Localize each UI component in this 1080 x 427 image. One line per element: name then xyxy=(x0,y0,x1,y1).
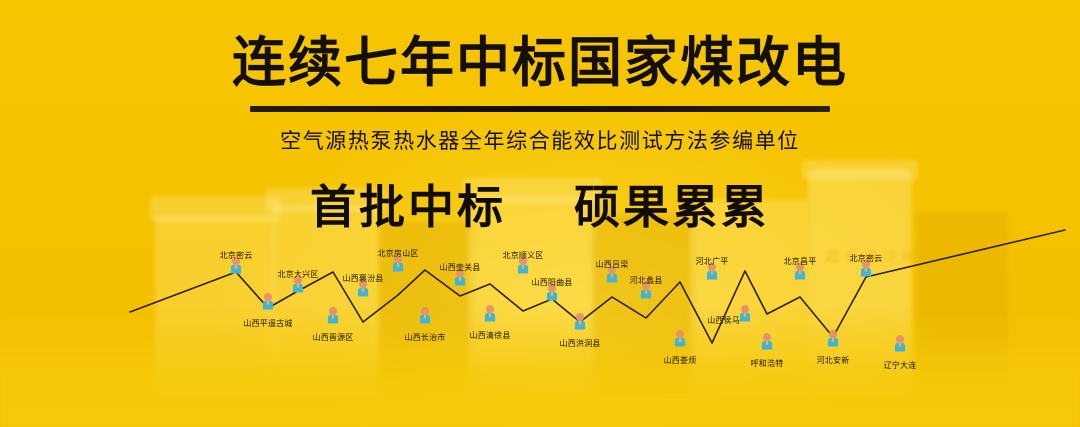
chart-location-marker xyxy=(262,293,275,310)
chart-location-marker xyxy=(674,330,687,347)
chart-location-marker xyxy=(484,305,497,322)
chart-point-label: 山西吕梁 xyxy=(596,259,629,270)
chart-location-marker xyxy=(419,307,432,324)
chart-point-label: 山西长治市 xyxy=(405,332,446,343)
chart-point-label: 北京顺义区 xyxy=(503,250,544,261)
chart-point-label: 山西壶关县 xyxy=(440,262,481,273)
chart-location-marker xyxy=(574,313,587,330)
chart-location-marker xyxy=(739,305,752,322)
chart-point-label: 山西晋源区 xyxy=(313,332,354,343)
chart-point-label: 辽宁大连 xyxy=(884,360,917,371)
chart-point-label: 河北蠡县 xyxy=(630,275,663,286)
chart-point-label: 山西襄汾县 xyxy=(343,273,384,284)
chart-point-label: 北京房山区 xyxy=(378,248,419,259)
chart-point-label: 山西娄烦 xyxy=(664,355,697,366)
chart-location-marker xyxy=(827,330,840,347)
chart-location-marker xyxy=(761,333,774,350)
poster-canvas: 超低温冷暖机 连续七年中标国家煤改电 空气源热泵热水器全年综合能效比测试方法参编… xyxy=(0,0,1080,427)
project-distribution-line-chart xyxy=(0,0,1080,427)
chart-point-label: 山西清徐县 xyxy=(470,330,511,341)
chart-point-label: 北京密云 xyxy=(220,250,253,261)
chart-point-label: 山西洪洞县 xyxy=(560,338,601,349)
chart-point-label: 河北广平 xyxy=(696,256,729,267)
chart-location-marker xyxy=(894,335,907,352)
chart-location-marker xyxy=(327,307,340,324)
chart-point-label: 北京大兴区 xyxy=(278,269,319,280)
chart-point-label: 河北安新 xyxy=(817,355,850,366)
chart-point-label: 呼和浩特 xyxy=(751,358,784,369)
chart-point-label: 山西平遥古城 xyxy=(243,318,292,329)
chart-point-label: 北京昌平 xyxy=(784,256,817,267)
chart-point-label: 北京密云 xyxy=(850,253,883,264)
chart-point-label: 山西阳曲县 xyxy=(532,277,573,288)
chart-point-label: 山西侯马 xyxy=(707,315,740,326)
